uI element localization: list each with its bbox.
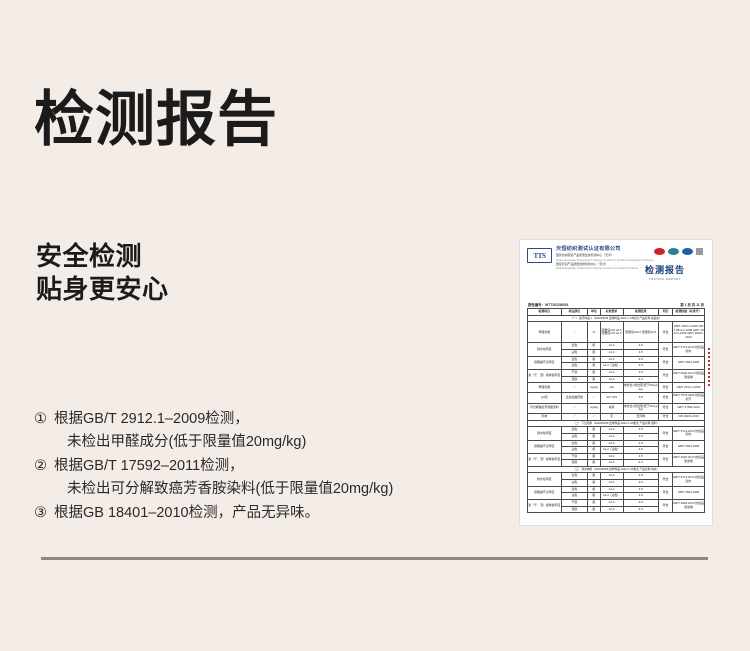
cell-verdict: 符合	[658, 427, 672, 440]
cell-result: 3-4	[623, 460, 658, 467]
col-header-basis: 检测依据（标准号）	[673, 309, 705, 316]
cell-requirement: ≥3-4	[600, 473, 623, 480]
report-title-cn: 检测报告	[645, 266, 685, 276]
list-item: ③ 根据GB 18401–2010检测，产品无异味。	[34, 502, 393, 525]
cell-unit: 级	[588, 440, 600, 447]
cell-part: 湿摩	[561, 460, 588, 467]
bullet-body-1: 根据GB/T 2912.1–2009检测， 未检出甲醛成分(低于限量值20mg/…	[54, 408, 393, 455]
cell-result: 4-5	[623, 427, 658, 434]
cell-result: 3-4	[623, 376, 658, 383]
table-header-row: 检测项目 样品部位 单位 标准要求 检测结果 判定 检测依据（标准号）	[528, 309, 705, 316]
table-row: 耐水色牢度 变色 级 ≥3-4 4-5 符合 GB/T 5713-2013 纺织…	[528, 473, 705, 480]
cell-verdict: 符合	[658, 486, 672, 499]
cell-unit: 级	[588, 427, 600, 434]
cell-requirement: ≥3-4	[600, 499, 623, 506]
table-row: 甲醛含量 ／ mg/kg ≤20 未检出 (检出限:低于20mg/kg) 符合 …	[528, 383, 705, 393]
test-results-table: 检测项目 样品部位 单位 标准要求 检测结果 判定 检测依据（标准号） （一） …	[527, 308, 705, 513]
cell-part: ／	[561, 383, 588, 393]
cell-unit: 级	[588, 506, 600, 513]
table-row: 甲醛含量 ／ % 限量值≤20 ≤0.5 限量值≤75 ≤2.0 限量值≤20.…	[528, 322, 705, 343]
cell-part: 沾色	[561, 350, 588, 357]
table-row: 耐（干、湿）摩擦色牢度 干摩 级 ≥3-4 4-5 符合 GB/T 3920-2…	[528, 499, 705, 506]
cnas-badge-icon	[668, 248, 679, 255]
cell-basis: GB/T 2912.1-2009	[673, 383, 705, 393]
cell-result: 4-5	[623, 453, 658, 460]
bullet-1-line-2: 未检出甲醛成分(低于限量值20mg/kg)	[54, 434, 306, 450]
cell-item: 耐（干、湿）摩擦色牢度	[528, 453, 562, 466]
cell-item: 耐酸碱汗渍牢度	[528, 356, 562, 369]
bullet-2-line-2: 未检出可分解致癌芳香胺染料(低于限量值20mg/kg)	[54, 481, 393, 497]
bullet-body-2: 根据GB/T 17592–2011检测， 未检出可分解致癌芳香胺染料(低于限量值…	[54, 455, 393, 502]
cell-unit: 级	[588, 343, 600, 350]
cell-basis: GB/T 17592-2011	[673, 403, 705, 413]
cell-unit: 级	[588, 480, 600, 487]
cell-part: 湿摩	[561, 376, 588, 383]
cell-verdict: 符合	[658, 440, 672, 453]
table-row: 耐水色牢度 变色 级 ≥3-4 4-5 符合 GB/T 5713-2013 纺织…	[528, 427, 705, 434]
cell-part: 沾色	[561, 433, 588, 440]
cell-requirement: ≥3-4	[600, 460, 623, 467]
table-row: pH值 直接接触皮肤 ／ 4.0～8.5 6.8 符合 GB/T 7573-40…	[528, 393, 705, 403]
report-number: 报告编号：WTT2022W001	[528, 302, 569, 307]
cell-part: 沾色	[561, 480, 588, 487]
report-title-en: TESTING REPORT	[645, 277, 685, 281]
bullet-3-line-1: 根据GB 18401–2010检测，产品无异味。	[54, 505, 319, 521]
table-body: （一） 编号样品 1（2022/05/08 送样样品 2022.4 -05批次 …	[528, 316, 705, 513]
table-row: 耐水色牢度 变色 级 ≥3-4 4-5 符合 GB/T 5713-2013 纺织…	[528, 343, 705, 350]
cell-part: 干摩	[561, 369, 588, 376]
cell-unit: ／	[588, 393, 600, 403]
cell-part: 沾色	[561, 447, 588, 454]
cell-result: 未检出 (检出限:低于20mg/kg)	[623, 383, 658, 393]
table-row: 耐酸碱汗渍牢度 变色 级 ≥3-4 4-5 符合 GB/T 3922-1995	[528, 440, 705, 447]
cell-item: 耐酸碱汗渍牢度	[528, 486, 562, 499]
subtitle-line-2: 贴身更安心	[36, 273, 169, 306]
table-row: 异味 ／ ／ 无 无异味 符合 GB 18401-2010	[528, 413, 705, 420]
cell-verdict: 符合	[658, 383, 672, 393]
cell-verdict: 符合	[658, 369, 672, 382]
section-divider	[41, 557, 708, 560]
document-header: TTS 天恒纺织测试认证有限公司 国家纺织服装产品质量监督检验中心（天津） Na…	[527, 246, 705, 280]
page-title: 检测报告	[34, 88, 278, 153]
cell-result: 4-5	[623, 343, 658, 350]
cell-unit: 级	[588, 376, 600, 383]
cell-requirement: ≥3-4	[600, 480, 623, 487]
cell-result: 4-5	[623, 499, 658, 506]
cell-result: 4-5	[623, 447, 658, 454]
cell-part: ／	[561, 403, 588, 413]
cell-item: 耐水色牢度	[528, 343, 562, 356]
cell-unit: 级	[588, 363, 600, 370]
cell-unit: %	[588, 322, 600, 343]
cell-part: 干摩	[561, 499, 588, 506]
cqc-badge-icon	[654, 248, 665, 255]
cell-result: 4-5	[623, 363, 658, 370]
cell-unit: 级	[588, 447, 600, 454]
cell-result: 4-5	[623, 356, 658, 363]
bullet-1-line-1: 根据GB/T 2912.1–2009检测，	[54, 411, 249, 427]
cell-part: 变色	[561, 486, 588, 493]
cell-basis: GB 18401-2010	[673, 413, 705, 420]
red-edge-marking	[708, 348, 710, 386]
cell-part: 变色	[561, 473, 588, 480]
col-header-part: 样品部位	[561, 309, 588, 316]
ilac-mark-icon	[696, 248, 703, 255]
cell-basis: GB/T 7573-4000 纺织品 耐汗	[673, 393, 705, 403]
list-item: ② 根据GB/T 17592–2011检测， 未检出可分解致癌芳香胺染料(低于限…	[34, 455, 393, 502]
bullet-marker-1: ①	[34, 408, 54, 431]
bullet-marker-3: ③	[34, 502, 54, 525]
cell-unit: 级	[588, 499, 600, 506]
cell-item: 甲醛含量	[528, 322, 562, 343]
cell-item: 耐（干、湿）摩擦色牢度	[528, 499, 562, 512]
issuer-center-2-en: National Quality Supervision Testing Cen…	[556, 266, 653, 270]
cell-result: 3-4	[623, 506, 658, 513]
cell-verdict: 符合	[658, 356, 672, 369]
cell-result: 4-5	[623, 350, 658, 357]
cell-requirement: ≥3-4	[600, 369, 623, 376]
cell-result: 4-5	[623, 480, 658, 487]
product-detail-page: 检测报告 安全检测 贴身更安心 ① 根据GB/T 2912.1–2009检测， …	[0, 0, 750, 651]
cell-unit: 级	[588, 460, 600, 467]
bullet-marker-2: ②	[34, 455, 54, 478]
subtitle-line-1: 安全检测	[36, 240, 169, 273]
cell-part: 变色	[561, 356, 588, 363]
cell-requirement: ≥3-4	[600, 356, 623, 363]
cell-result: 4-5	[623, 433, 658, 440]
cell-unit: 级	[588, 473, 600, 480]
cell-verdict: 符合	[658, 473, 672, 486]
cell-basis: GB/T 5713-2013 纺织品 耐水	[673, 473, 705, 486]
cell-unit: 级	[588, 350, 600, 357]
cell-item: 耐水色牢度	[528, 427, 562, 440]
cell-requirement: ≤20	[600, 383, 623, 393]
cell-requirement: ≥3-4	[600, 376, 623, 383]
cell-verdict: 符合	[658, 453, 672, 466]
cell-unit: mg/kg	[588, 403, 600, 413]
cell-basis: GB/T 3922-1995	[673, 486, 705, 499]
cell-result: 4-5	[623, 486, 658, 493]
cell-part: ／	[561, 322, 588, 343]
tts-logo-icon: TTS	[527, 248, 552, 263]
cell-verdict: 符合	[658, 403, 672, 413]
cell-part: 直接接触皮肤	[561, 393, 588, 403]
cell-verdict: 符合	[658, 499, 672, 512]
cell-part: 变色	[561, 343, 588, 350]
cell-unit: 级	[588, 486, 600, 493]
table-row: 耐（干、湿）摩擦色牢度 干摩 级 ≥3-4 4-5 符合 GB/T 3920-2…	[528, 369, 705, 376]
bullet-2-line-1: 根据GB/T 17592–2011检测，	[54, 458, 244, 474]
cell-unit: 级	[588, 433, 600, 440]
cell-result: 4-5	[623, 440, 658, 447]
cell-result: 限量值≤20.0 限量值≤0.5	[623, 322, 658, 343]
cell-requirement: 4.0～8.5	[600, 393, 623, 403]
cell-verdict: 符合	[658, 413, 672, 420]
report-title-block: 检测报告 TESTING REPORT	[645, 266, 685, 281]
cell-item: pH值	[528, 393, 562, 403]
cell-result: 未检出 (检出限:低于20mg/kg)	[623, 403, 658, 413]
accreditation-badges	[654, 248, 703, 255]
cell-verdict: 符合	[658, 343, 672, 356]
cell-result: 4-5	[623, 493, 658, 500]
cell-requirement: ≥3-4	[600, 506, 623, 513]
col-header-verdict: 判定	[658, 309, 672, 316]
cell-basis: GB/T 5713-2013 纺织品 耐水	[673, 343, 705, 356]
cell-requirement: ≥3-4	[600, 433, 623, 440]
cell-basis: GB/T 5713-2013 纺织品 耐水	[673, 427, 705, 440]
cell-requirement: ≥3-4（沾色）	[600, 493, 623, 500]
cell-requirement: ≥3-4	[600, 453, 623, 460]
cell-basis: GB/T 3920-2013 纺织品 耐摩擦	[673, 453, 705, 466]
cma-badge-icon	[682, 248, 693, 255]
cell-item: 异味	[528, 413, 562, 420]
cell-part: 干摩	[561, 453, 588, 460]
cell-part: 沾色	[561, 493, 588, 500]
cell-item: 可分解致癌芳香胺染料	[528, 403, 562, 413]
cell-basis: GB/T 3922-1995	[673, 356, 705, 369]
cell-requirement: ≥3-4	[600, 350, 623, 357]
cell-unit: mg/kg	[588, 383, 600, 393]
table-row: 可分解致癌芳香胺染料 ／ mg/kg 禁用 未检出 (检出限:低于20mg/kg…	[528, 403, 705, 413]
cell-requirement: ≥3-4（沾色）	[600, 447, 623, 454]
col-header-item: 检测项目	[528, 309, 562, 316]
cell-result: 6.8	[623, 393, 658, 403]
cell-item: 甲醛含量	[528, 383, 562, 393]
issuer-info: 天恒纺织测试认证有限公司 国家纺织服装产品质量监督检验中心（天津） Nation…	[556, 246, 653, 271]
cell-basis: GB/T 3920-2013 纺织品 耐摩擦	[673, 499, 705, 512]
bullet-body-3: 根据GB 18401–2010检测，产品无异味。	[54, 502, 393, 525]
col-header-unit: 单位	[588, 309, 600, 316]
cell-requirement: 禁用	[600, 403, 623, 413]
cell-item: 耐（干、湿）摩擦色牢度	[528, 369, 562, 382]
cell-unit: ／	[588, 413, 600, 420]
cell-verdict: 符合	[658, 393, 672, 403]
col-header-result: 检测结果	[623, 309, 658, 316]
cell-part: 变色	[561, 440, 588, 447]
cell-result: 4-5	[623, 473, 658, 480]
cell-basis: GB/T 3920-2013 纺织品 耐摩擦	[673, 369, 705, 382]
test-report-document-thumbnail[interactable]: TTS 天恒纺织测试认证有限公司 国家纺织服装产品质量监督检验中心（天津） Na…	[520, 240, 712, 525]
cell-unit: 级	[588, 356, 600, 363]
table-row: 耐（干、湿）摩擦色牢度 干摩 级 ≥3-4 4-5 符合 GB/T 3920-2…	[528, 453, 705, 460]
cell-requirement: ≥3-4	[600, 343, 623, 350]
table-row: 耐酸碱汗渍牢度 变色 级 ≥3-4 4-5 符合 GB/T 3922-1995	[528, 486, 705, 493]
cell-requirement: ≥3-4	[600, 427, 623, 434]
cell-basis: GB/T 2912.1-2009 GB/T 2912.2-2009 GB/T 2…	[673, 322, 705, 343]
cell-requirement: ≥3-4	[600, 486, 623, 493]
cell-item: 耐水色牢度	[528, 473, 562, 486]
cell-result: 无异味	[623, 413, 658, 420]
cell-unit: 级	[588, 493, 600, 500]
cell-result: 4-5	[623, 369, 658, 376]
cell-part: 湿摩	[561, 506, 588, 513]
cell-part: 沾色	[561, 363, 588, 370]
subtitle-block: 安全检测 贴身更安心	[36, 240, 169, 307]
cell-part: 变色	[561, 427, 588, 434]
cell-requirement: ≥3-4	[600, 440, 623, 447]
list-item: ① 根据GB/T 2912.1–2009检测， 未检出甲醛成分(低于限量值20m…	[34, 408, 393, 455]
cell-unit: 级	[588, 453, 600, 460]
table-row: 耐酸碱汗渍牢度 变色 级 ≥3-4 4-5 符合 GB/T 3922-1995	[528, 356, 705, 363]
cell-basis: GB/T 3922-1995	[673, 440, 705, 453]
certification-bullet-list: ① 根据GB/T 2912.1–2009检测， 未检出甲醛成分(低于限量值20m…	[34, 408, 393, 525]
col-header-requirement: 标准要求	[600, 309, 623, 316]
cell-part: ／	[561, 413, 588, 420]
page-number: 第 1 页 共 11 页	[680, 302, 704, 307]
cell-requirement: 限量值≤20 ≤0.5 限量值≤75 ≤2.0	[600, 322, 623, 343]
cell-requirement: ≥3-4（沾色）	[600, 363, 623, 370]
cell-requirement: 无	[600, 413, 623, 420]
cell-item: 耐酸碱汗渍牢度	[528, 440, 562, 453]
cell-unit: 级	[588, 369, 600, 376]
cell-verdict: 符合	[658, 322, 672, 343]
